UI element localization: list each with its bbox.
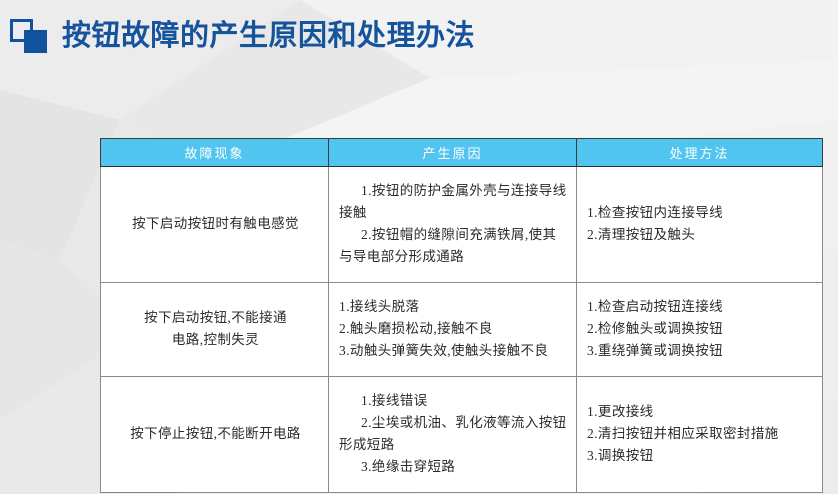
cell-cause: 1.接线头脱落 2.触头磨损松动,接触不良 3.动触头弹簧失效,使触头接触不良 <box>329 283 577 377</box>
cause-item: 2.按钮帽的缝隙间充满铁屑,使其与导电部分形成通路 <box>339 224 568 268</box>
table-row: 按下停止按钮,不能断开电路 1.接线错误 2.尘埃或机油、乳化液等流入按钮形成短… <box>101 377 823 493</box>
cell-symptom: 按下启动按钮时有触电感觉 <box>101 167 329 283</box>
fault-table-container: 故障现象 产生原因 处理方法 按下启动按钮时有触电感觉 1.按钮的防护金属外壳与… <box>100 138 822 493</box>
symptom-line: 按下启动按钮,不能接通 <box>111 307 320 329</box>
cell-cause: 1.接线错误 2.尘埃或机油、乳化液等流入按钮形成短路 3.绝缘击穿短路 <box>329 377 577 493</box>
cause-item: 1.接线头脱落 <box>339 296 568 318</box>
page-title: 按钮故障的产生原因和处理办法 <box>62 22 475 51</box>
fault-table: 故障现象 产生原因 处理方法 按下启动按钮时有触电感觉 1.按钮的防护金属外壳与… <box>100 138 823 493</box>
table-body: 按下启动按钮时有触电感觉 1.按钮的防护金属外壳与连接导线接触 2.按钮帽的缝隙… <box>101 167 823 493</box>
slide-title-bar: 按钮故障的产生原因和处理办法 <box>0 0 838 72</box>
column-header-symptom: 故障现象 <box>101 139 329 167</box>
table-row: 按下启动按钮时有触电感觉 1.按钮的防护金属外壳与连接导线接触 2.按钮帽的缝隙… <box>101 167 823 283</box>
symptom-line: 按下启动按钮时有触电感觉 <box>111 213 320 235</box>
remedy-item: 1.检查启动按钮连接线 <box>587 296 814 318</box>
remedy-item: 1.检查按钮内连接导线 <box>587 202 814 224</box>
cause-item: 2.尘埃或机油、乳化液等流入按钮形成短路 <box>339 412 568 456</box>
cause-item: 3.动触头弹簧失效,使触头接触不良 <box>339 340 568 362</box>
cause-item: 3.绝缘击穿短路 <box>339 456 568 478</box>
remedy-item: 2.检修触头或调换按钮 <box>587 318 814 340</box>
table-header: 故障现象 产生原因 处理方法 <box>101 139 823 167</box>
remedy-item: 3.重绕弹簧或调换按钮 <box>587 340 814 362</box>
cell-remedy: 1.更改接线 2.清扫按钮并相应采取密封措施 3.调换按钮 <box>577 377 823 493</box>
cell-remedy: 1.检查启动按钮连接线 2.检修触头或调换按钮 3.重绕弹簧或调换按钮 <box>577 283 823 377</box>
column-header-remedy: 处理方法 <box>577 139 823 167</box>
remedy-item: 2.清扫按钮并相应采取密封措施 <box>587 423 814 445</box>
cell-symptom: 按下停止按钮,不能断开电路 <box>101 377 329 493</box>
symptom-line: 电路,控制失灵 <box>111 329 320 351</box>
cause-item: 1.接线错误 <box>339 390 568 412</box>
cell-remedy: 1.检查按钮内连接导线 2.清理按钮及触头 <box>577 167 823 283</box>
symptom-line: 按下停止按钮,不能断开电路 <box>111 423 320 445</box>
remedy-item: 2.清理按钮及触头 <box>587 224 814 246</box>
two-squares-icon <box>10 17 52 57</box>
cause-item: 1.按钮的防护金属外壳与连接导线接触 <box>339 180 568 224</box>
cause-item: 2.触头磨损松动,接触不良 <box>339 318 568 340</box>
remedy-item: 3.调换按钮 <box>587 445 814 467</box>
table-header-row: 故障现象 产生原因 处理方法 <box>101 139 823 167</box>
cell-cause: 1.按钮的防护金属外壳与连接导线接触 2.按钮帽的缝隙间充满铁屑,使其与导电部分… <box>329 167 577 283</box>
remedy-item: 1.更改接线 <box>587 401 814 423</box>
cell-symptom: 按下启动按钮,不能接通 电路,控制失灵 <box>101 283 329 377</box>
column-header-cause: 产生原因 <box>329 139 577 167</box>
square-filled-shape <box>24 30 47 53</box>
table-row: 按下启动按钮,不能接通 电路,控制失灵 1.接线头脱落 2.触头磨损松动,接触不… <box>101 283 823 377</box>
